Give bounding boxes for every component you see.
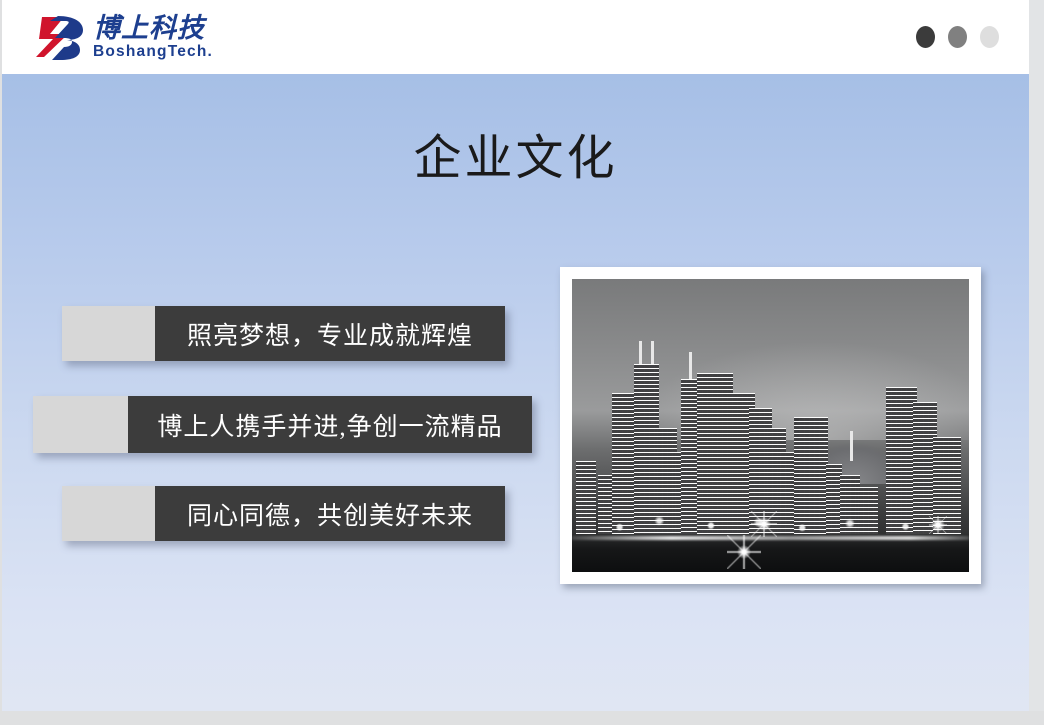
- culture-banner-2: 博上人携手并进,争创一流精品: [33, 396, 532, 453]
- logo-chinese-name: 博上科技: [93, 14, 213, 43]
- light-starburst: [929, 516, 947, 534]
- banner-body-1: 照亮梦想，专业成就辉煌: [155, 306, 505, 361]
- banner-text-2: 博上人携手并进,争创一流精品: [157, 407, 502, 443]
- slide-indicator-dots[interactable]: [916, 26, 999, 48]
- company-logo: 博上科技 BoshangTech.: [34, 9, 239, 65]
- left-edge-strip: [0, 0, 2, 711]
- banner-text-3: 同心同德，共创美好未来: [187, 496, 473, 532]
- bottom-edge-strip: [0, 711, 1044, 725]
- dot-light[interactable]: [980, 26, 999, 48]
- culture-banner-3: 同心同德，共创美好未来: [62, 486, 505, 541]
- slide-canvas: 企业文化 照亮梦想，专业成就辉煌 博上人携手并进,争创一流精品 同心同德，共创美…: [2, 74, 1029, 711]
- photo-frame: [560, 267, 981, 584]
- page-title: 企业文化: [2, 131, 1029, 187]
- banner-pad-1: [62, 306, 155, 361]
- right-edge-strip: [1029, 0, 1044, 711]
- city-skyline-night-photo: [572, 279, 969, 572]
- light-starburst: [727, 535, 761, 569]
- building-spire: [639, 341, 642, 364]
- slide-root: 博上科技 BoshangTech. 企业文化 照亮梦想，专业成就辉煌 博上人携手…: [0, 0, 1044, 725]
- slide-header: 博上科技 BoshangTech.: [2, 0, 1029, 74]
- banner-pad-3: [62, 486, 155, 541]
- building-spire: [689, 352, 692, 378]
- banner-body-2: 博上人携手并进,争创一流精品: [128, 396, 532, 453]
- dot-mid[interactable]: [948, 26, 967, 48]
- banner-text-1: 照亮梦想，专业成就辉煌: [187, 316, 473, 352]
- antenna: [850, 431, 853, 460]
- dot-active[interactable]: [916, 26, 935, 48]
- boshang-logo-mark-icon: [34, 13, 86, 61]
- light-starburst: [751, 511, 777, 537]
- building-spire: [651, 341, 654, 364]
- culture-banner-1: 照亮梦想，专业成就辉煌: [62, 306, 505, 361]
- banner-body-3: 同心同德，共创美好未来: [155, 486, 505, 541]
- logo-text-block: 博上科技 BoshangTech.: [93, 14, 213, 61]
- banner-pad-2: [33, 396, 128, 453]
- logo-english-name: BoshangTech.: [93, 43, 213, 61]
